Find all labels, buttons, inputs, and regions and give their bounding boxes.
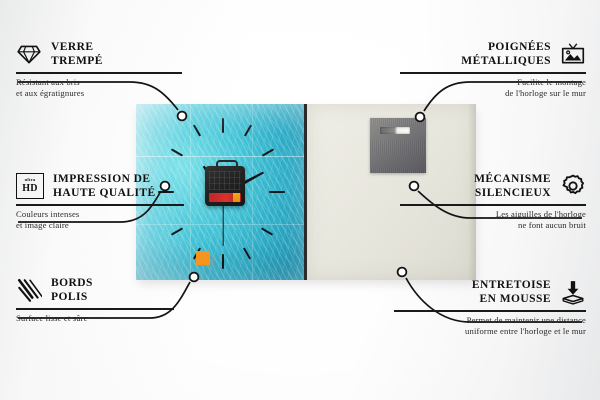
hour-mark: [171, 148, 183, 156]
glass-highlight: [136, 156, 304, 157]
callout-impression-haute-qualite: ultra HD IMPRESSION DE HAUTE QUALITÉ Cou…: [16, 172, 194, 231]
callout-description: Facilite le montage de l'horloge sur le …: [396, 77, 586, 99]
hour-mark: [262, 148, 274, 156]
callout-divider: [400, 72, 586, 74]
battery-terminal: [235, 195, 239, 200]
callout-divider: [16, 308, 174, 310]
foam-spacer-part: [196, 251, 210, 265]
callout-divider: [16, 204, 184, 206]
callout-title: POIGNÉES MÉTALLIQUES: [461, 40, 551, 68]
hanger-plate-part: [370, 118, 426, 173]
gear-icon: [560, 173, 586, 199]
callout-header: POIGNÉES MÉTALLIQUES: [396, 40, 586, 68]
callout-mecanisme-silencieux: MÉCANISME SILENCIEUX Les aiguilles de l'…: [396, 172, 586, 231]
product-infographic: VERRE TREMPÉ Résistant aux bris et aux é…: [0, 0, 600, 400]
movement-hook: [216, 160, 238, 170]
clock-movement-part: [205, 166, 245, 206]
callout-entretoise-en-mousse: ENTRETOISE EN MOUSSE Permet de maintenir…: [390, 278, 586, 337]
callout-title: IMPRESSION DE HAUTE QUALITÉ: [53, 172, 156, 200]
wall-mount-frame-icon: [560, 41, 586, 67]
battery: [209, 193, 241, 202]
callout-header: MÉCANISME SILENCIEUX: [396, 172, 586, 200]
callout-divider: [16, 72, 182, 74]
callout-header: ultra HD IMPRESSION DE HAUTE QUALITÉ: [16, 172, 194, 200]
callout-title: BORDS POLIS: [51, 276, 93, 304]
hour-mark: [222, 118, 224, 133]
callout-description: Permet de maintenir une distance uniform…: [390, 315, 586, 337]
callout-description: Les aiguilles de l'horloge ne font aucun…: [396, 209, 586, 231]
polished-edges-icon: [16, 277, 42, 303]
foam-spacer-icon: [560, 279, 586, 305]
hanger-slot: [380, 127, 410, 134]
callout-poignees-metalliques: POIGNÉES MÉTALLIQUES Facilite le montage…: [396, 40, 586, 99]
hour-mark: [243, 247, 251, 259]
hour-mark: [222, 254, 224, 269]
callout-divider: [394, 310, 586, 312]
callout-divider: [400, 204, 586, 206]
callout-header: BORDS POLIS: [16, 276, 176, 304]
ultra-hd-icon: ultra HD: [16, 173, 44, 199]
callout-bords-polis: BORDS POLIS Surface lisse et sûre: [16, 276, 176, 324]
hour-mark: [193, 124, 201, 136]
hour-mark: [244, 124, 252, 136]
movement-texture: [209, 171, 241, 190]
callout-description: Surface lisse et sûre: [16, 313, 176, 324]
callout-header: ENTRETOISE EN MOUSSE: [390, 278, 586, 306]
callout-description: Couleurs intenses et image claire: [16, 209, 194, 231]
glass-highlight: [252, 104, 253, 280]
callout-header: VERRE TREMPÉ: [16, 40, 186, 68]
hour-mark: [261, 227, 273, 235]
callout-title: VERRE TREMPÉ: [51, 40, 103, 68]
hour-mark: [269, 191, 285, 193]
callout-title: MÉCANISME SILENCIEUX: [474, 172, 551, 200]
callout-title: ENTRETOISE EN MOUSSE: [472, 278, 551, 306]
callout-verre-trempe: VERRE TREMPÉ Résistant aux bris et aux é…: [16, 40, 186, 99]
diamond-icon: [16, 41, 42, 67]
callout-description: Résistant aux bris et aux égratignures: [16, 77, 186, 99]
